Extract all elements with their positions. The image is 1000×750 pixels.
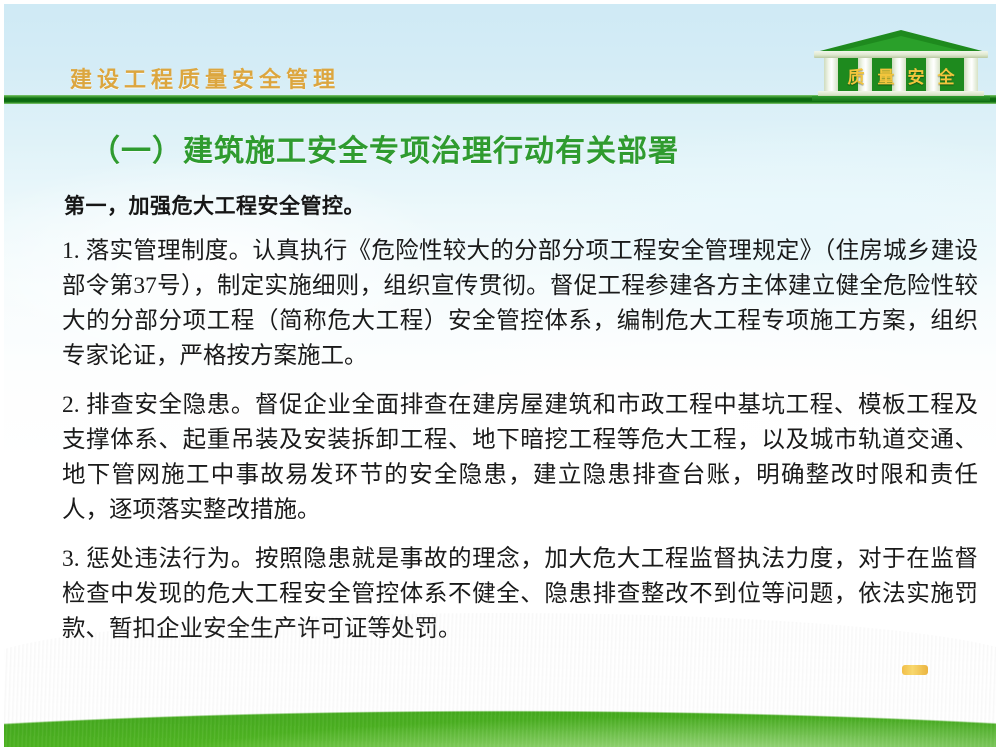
slide-header: 建设工程质量安全管理 质量安全 [4, 4, 996, 104]
emblem-architrave [814, 51, 988, 58]
presentation-slide: 建设工程质量安全管理 质量安全 （一）建筑施工安全专项治理行动有关部署 [0, 0, 1000, 750]
slide-content: （一）建筑施工安全专项治理行动有关部署 第一，加强危大工程安全管控。 1. 落实… [4, 108, 996, 647]
emblem-roof-highlight-icon [836, 36, 966, 52]
body-paragraph-2: 2. 排查安全隐患。督促企业全面排查在建房屋建筑和市政工程中基坑工程、模板工程及… [4, 388, 996, 528]
grass-field-decoration [4, 613, 996, 747]
emblem-label: 质量安全 [810, 63, 992, 88]
body-paragraph-1: 1. 落实管理制度。认真执行《危险性较大的分部分项工程安全管理规定》（住房城乡建… [4, 234, 996, 374]
grass-flower-decoration [902, 665, 928, 675]
grass-texture [4, 613, 996, 747]
slide-title: （一）建筑施工安全专项治理行动有关部署 [4, 126, 996, 170]
grass-highlight [4, 703, 996, 747]
slide-canvas: 建设工程质量安全管理 质量安全 （一）建筑施工安全专项治理行动有关部署 [4, 4, 996, 747]
header-title: 建设工程质量安全管理 [70, 62, 340, 94]
slide-lead-heading: 第一，加强危大工程安全管控。 [4, 190, 996, 220]
quality-safety-emblem: 质量安全 [810, 30, 992, 102]
emblem-base [812, 96, 990, 101]
